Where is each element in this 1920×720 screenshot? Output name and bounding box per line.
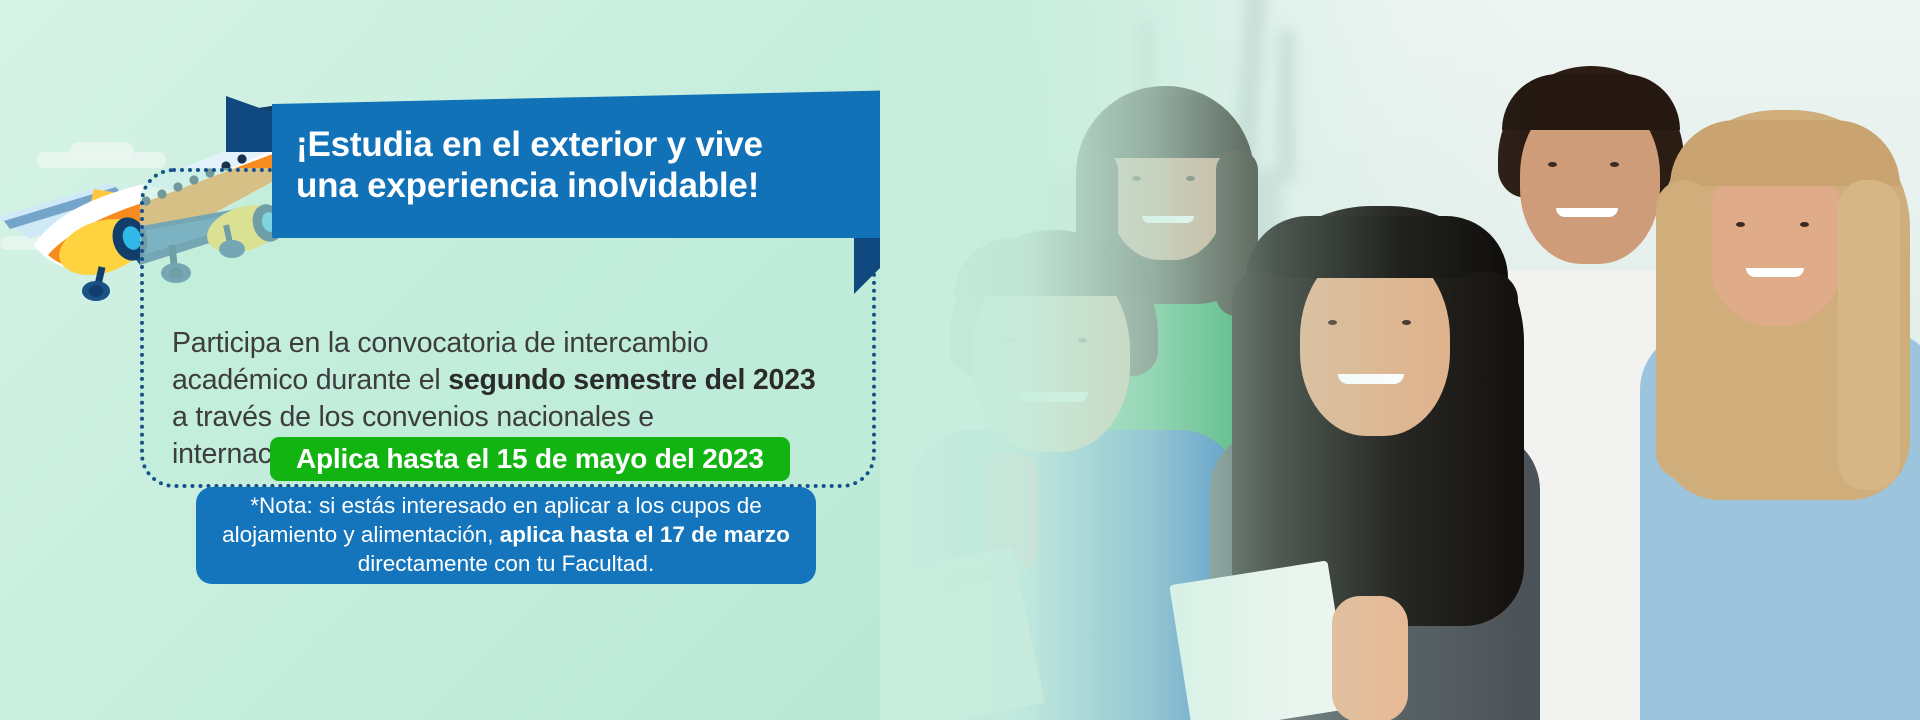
headline-text: ¡Estudia en el exterior y vive una exper… bbox=[296, 124, 896, 207]
student-group-illustration bbox=[880, 0, 1920, 720]
note-highlight: aplica hasta el 17 de marzo bbox=[500, 522, 790, 547]
housing-note-box: *Nota: si estás interesado en aplicar a … bbox=[196, 487, 816, 584]
paragraph-highlight: segundo semestre del 2023 bbox=[448, 364, 815, 396]
note-content: *Nota: si estás interesado en aplicar a … bbox=[214, 492, 798, 578]
apply-deadline-button[interactable]: Aplica hasta el 15 de mayo del 2023 bbox=[270, 437, 790, 481]
headline-ribbon: ¡Estudia en el exterior y vive una exper… bbox=[226, 90, 906, 250]
study-abroad-promo-banner: ¡Estudia en el exterior y vive una exper… bbox=[0, 0, 1920, 720]
apply-deadline-label: Aplica hasta el 15 de mayo del 2023 bbox=[296, 443, 764, 475]
headline-line-1: ¡Estudia en el exterior y vive bbox=[296, 124, 896, 165]
students-photo bbox=[880, 0, 1920, 720]
note-part-2: directamente con tu Facultad. bbox=[358, 551, 654, 576]
headline-line-2: una experiencia inolvidable! bbox=[296, 165, 896, 206]
